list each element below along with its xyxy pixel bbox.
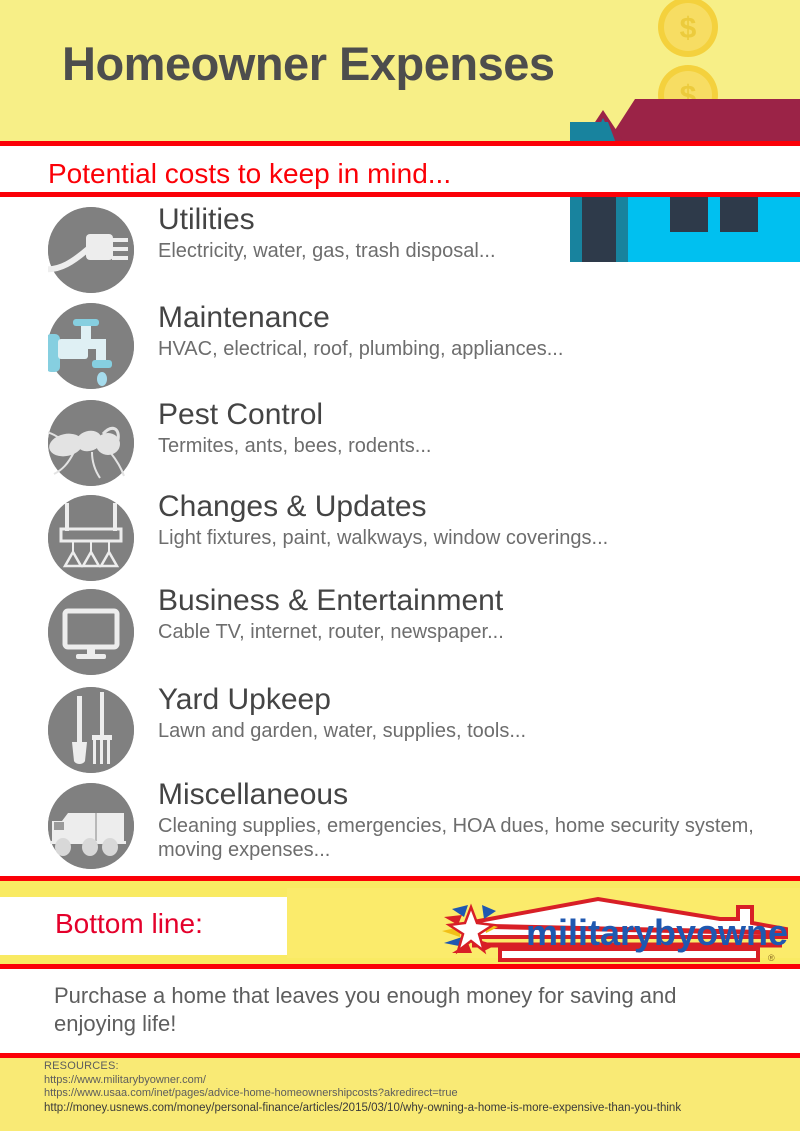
militarybyowner-logo[interactable]: militarybyowner.com ® (438, 893, 790, 965)
pendant-light-icon (48, 495, 134, 581)
resource-link[interactable]: http://money.usnews.com/money/personal-f… (44, 1101, 794, 1115)
item-title: Maintenance (158, 303, 792, 333)
ant-icon (48, 400, 134, 486)
logo-trademark: ® (768, 953, 775, 963)
logo-wordmark: militarybyowner.com (526, 912, 790, 953)
infographic-page: Homeowner Expenses $ $ (0, 0, 800, 1131)
bottom-line-label: Bottom line: (55, 908, 203, 940)
item-desc: Lawn and garden, water, supplies, tools.… (158, 719, 792, 743)
page-title: Homeowner Expenses (62, 36, 555, 91)
item-title: Utilities (158, 205, 792, 235)
shovel-pitchfork-icon (48, 687, 134, 773)
moving-truck-icon (48, 783, 134, 869)
star-burst-icon (442, 905, 498, 953)
item-title: Business & Entertainment (158, 586, 792, 616)
faucet-icon (48, 303, 134, 389)
item-desc: Cleaning supplies, emergencies, HOA dues… (158, 814, 792, 862)
item-title: Changes & Updates (158, 492, 792, 522)
expense-list: Utilities Electricity, water, gas, trash… (0, 197, 800, 876)
resource-link[interactable]: https://www.militarybyowner.com/ (44, 1074, 794, 1087)
item-desc: Electricity, water, gas, trash disposal.… (158, 239, 792, 263)
resources-label: RESOURCES: (44, 1060, 119, 1072)
item-desc: Light fixtures, paint, walkways, window … (158, 526, 792, 550)
item-desc: Termites, ants, bees, rodents... (158, 434, 792, 458)
item-desc: Cable TV, internet, router, newspaper... (158, 620, 792, 644)
resources-list: https://www.militarybyowner.com/ https:/… (44, 1074, 794, 1115)
item-title: Yard Upkeep (158, 685, 792, 715)
subtitle: Potential costs to keep in mind... (48, 158, 451, 190)
item-title: Miscellaneous (158, 780, 792, 810)
item-desc: HVAC, electrical, roof, plumbing, applia… (158, 337, 792, 361)
quote-text: Purchase a home that leaves you enough m… (54, 982, 754, 1038)
item-title: Pest Control (158, 400, 792, 430)
power-plug-icon (48, 207, 134, 293)
monitor-icon (48, 589, 134, 675)
resource-link[interactable]: https://www.usaa.com/inet/pages/advice-h… (44, 1087, 794, 1100)
